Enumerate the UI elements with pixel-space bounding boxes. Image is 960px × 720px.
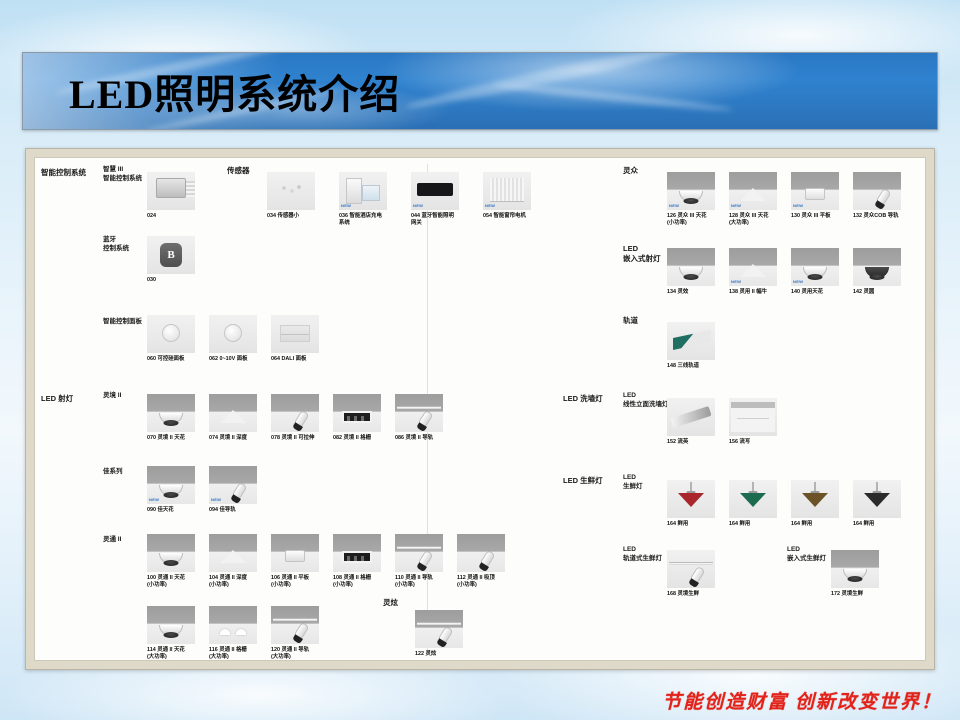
new-badge: NEW xyxy=(793,279,803,284)
product-caption: 100 灵通 II 天花 (小功率) xyxy=(147,575,195,589)
product-thumbnail xyxy=(333,394,381,432)
gateway-box-icon xyxy=(417,183,453,196)
downlight-ring-icon xyxy=(684,274,699,280)
product-thumbnail xyxy=(667,398,715,436)
grille-lamp-icon xyxy=(342,551,372,563)
product-cell[interactable]: 164 鲜用 xyxy=(791,480,839,528)
product-caption: 164 鲜用 xyxy=(667,521,715,528)
product-cell[interactable]: NEW094 佳导轨 xyxy=(209,466,257,514)
product-thumbnail: NEW xyxy=(667,172,715,210)
product-cell[interactable]: 164 鲜用 xyxy=(729,480,777,528)
product-caption: 024 xyxy=(147,213,195,220)
curtain-motor-icon xyxy=(490,178,524,202)
product-thumbnail xyxy=(791,480,839,518)
product-cell[interactable]: B030 xyxy=(147,236,195,284)
product-caption: 062 0~10V 面板 xyxy=(209,356,257,363)
track-head-icon xyxy=(437,626,453,644)
new-badge: NEW xyxy=(149,497,159,502)
cone-lamp-icon xyxy=(220,410,246,423)
product-thumbnail xyxy=(209,534,257,572)
product-caption: 108 灵通 II 格栅 (小功率) xyxy=(333,575,381,589)
product-thumbnail xyxy=(209,394,257,432)
product-cell[interactable]: 148 三线轨道 xyxy=(667,322,715,370)
product-caption: 126 灵众 III 天花 (小功率) xyxy=(667,213,715,227)
product-cell[interactable]: 152 流英 xyxy=(667,398,715,446)
pendant-shade-icon xyxy=(678,493,704,507)
product-caption: 122 灵炫 xyxy=(415,651,463,658)
product-thumbnail xyxy=(147,394,195,432)
product-thumbnail xyxy=(853,248,901,286)
product-thumbnail xyxy=(147,534,195,572)
product-thumbnail xyxy=(271,394,319,432)
product-cell[interactable]: NEW036 智能酒店充电系统 xyxy=(339,172,387,227)
track-head-icon xyxy=(875,188,891,206)
new-badge: NEW xyxy=(731,203,741,208)
product-caption: 104 灵通 II 深度 (小功率) xyxy=(209,575,257,589)
product-cell[interactable]: 078 灵境 II 可拉伸 xyxy=(271,394,319,442)
section-title: 灵炫 xyxy=(383,598,398,608)
product-thumbnail xyxy=(271,606,319,644)
wall-wash-icon xyxy=(731,402,775,432)
twin-dome-icon xyxy=(217,623,249,635)
group-label: LED 线性立面洗墙灯 xyxy=(623,392,669,410)
product-caption: 120 灵通 II 导轨 (大功率) xyxy=(271,647,319,661)
downlight-ring-icon xyxy=(164,492,179,498)
pendant-shade-icon xyxy=(740,493,766,507)
cone-lamp-icon xyxy=(740,188,766,201)
product-cell[interactable]: 112 灵通 II 吸顶 (小功率) xyxy=(457,534,505,589)
product-thumbnail xyxy=(147,606,195,644)
new-badge: NEW xyxy=(793,203,803,208)
catalog-sheet: 智能控制系统智慧 III 智能控制系统024蓝牙 控制系统B030智能控制面板0… xyxy=(34,157,926,661)
product-caption: 164 鲜用 xyxy=(791,521,839,528)
new-badge: NEW xyxy=(731,279,741,284)
product-thumbnail xyxy=(267,172,315,210)
product-cell[interactable]: 142 灵圆 xyxy=(853,248,901,296)
group-label: 蓝牙 控制系统 xyxy=(103,236,129,254)
group-label: 佳系列 xyxy=(103,468,123,477)
product-thumbnail xyxy=(147,315,195,353)
grille-lamp-icon xyxy=(342,411,372,423)
pendant-shade-icon xyxy=(802,493,828,507)
product-caption: 110 灵通 II 导轨 (小功率) xyxy=(395,575,443,589)
product-caption: 094 佳导轨 xyxy=(209,507,257,514)
track-rail-icon xyxy=(417,622,461,625)
product-cell[interactable]: 104 灵通 II 深度 (小功率) xyxy=(209,534,257,589)
product-thumbnail: NEW xyxy=(147,466,195,504)
product-thumbnail xyxy=(667,248,715,286)
track-head-icon xyxy=(417,550,433,568)
downlight-ring-icon xyxy=(684,198,699,204)
product-thumbnail xyxy=(395,534,443,572)
section-title: 智能控制系统 xyxy=(41,168,86,178)
downlight-ring-icon xyxy=(848,576,863,582)
cloud-streak-icon xyxy=(493,80,733,113)
product-thumbnail xyxy=(457,534,505,572)
product-cell[interactable]: 164 鲜用 xyxy=(853,480,901,528)
product-caption: 112 灵通 II 吸顶 (小功率) xyxy=(457,575,505,589)
product-thumbnail xyxy=(271,534,319,572)
product-cell[interactable]: 082 灵境 II 格栅 xyxy=(333,394,381,442)
product-cell[interactable]: 120 灵通 II 导轨 (大功率) xyxy=(271,606,319,661)
slide-title-banner: LED照明系统介绍 xyxy=(22,52,938,130)
track-head-icon xyxy=(479,550,495,568)
group-label: LED 生鲜灯 xyxy=(623,474,643,492)
downlight-ring-icon xyxy=(870,274,885,280)
product-cell[interactable]: 064 DALI 面板 xyxy=(271,315,319,363)
product-caption: 060 可控硅面板 xyxy=(147,356,195,363)
footer-slogan: 节能创造财富 创新改变世界！ xyxy=(662,687,942,714)
product-thumbnail xyxy=(209,315,257,353)
product-thumbnail xyxy=(729,480,777,518)
product-cell[interactable]: NEW044 蓝牙智能照明网关 xyxy=(411,172,459,227)
cone-lamp-icon xyxy=(220,550,246,563)
product-caption: 090 佳天花 xyxy=(147,507,195,514)
product-caption: 036 智能酒店充电系统 xyxy=(339,213,387,227)
product-cell[interactable]: NEW054 智能窗帘电机 xyxy=(483,172,531,220)
product-cell[interactable]: 114 灵通 II 天花 (大功率) xyxy=(147,606,195,661)
product-caption: 034 传感器小 xyxy=(267,213,315,220)
product-cell[interactable]: NEW130 灵众 III 平板 xyxy=(791,172,839,220)
dimmer-knob-icon xyxy=(224,324,242,342)
downlight-ring-icon xyxy=(164,560,179,566)
product-caption: 128 灵众 III 天花 (大功率) xyxy=(729,213,777,227)
dimmer-knob-icon xyxy=(162,324,180,342)
product-thumbnail xyxy=(667,322,715,360)
product-caption: 148 三线轨道 xyxy=(667,363,715,370)
product-cell[interactable]: 074 灵境 II 深度 xyxy=(209,394,257,442)
group-label: 灵通 II xyxy=(103,536,121,545)
product-cell[interactable]: 164 鲜用 xyxy=(667,480,715,528)
product-thumbnail xyxy=(147,172,195,210)
product-cell[interactable]: NEW140 灵用天花 xyxy=(791,248,839,296)
page-title: LED照明系统介绍 xyxy=(69,62,400,120)
product-caption: 086 灵境 II 导轨 xyxy=(395,435,443,442)
product-cell[interactable]: 086 灵境 II 导轨 xyxy=(395,394,443,442)
sensor-icon xyxy=(278,184,304,194)
product-cell[interactable]: 108 灵通 II 格栅 (小功率) xyxy=(333,534,381,589)
product-caption: 134 灵效 xyxy=(667,289,715,296)
linear-wash-icon xyxy=(670,406,711,428)
product-cell[interactable]: 110 灵通 II 导轨 (小功率) xyxy=(395,534,443,589)
product-thumbnail xyxy=(853,480,901,518)
product-thumbnail: NEW xyxy=(209,466,257,504)
product-caption: 164 鲜用 xyxy=(853,521,901,528)
product-cell[interactable]: NEW090 佳天花 xyxy=(147,466,195,514)
product-caption: 132 灵众COB 导轨 xyxy=(853,213,901,220)
product-thumbnail: NEW xyxy=(483,172,531,210)
product-caption: 114 灵通 II 天花 (大功率) xyxy=(147,647,195,661)
product-cell[interactable]: 134 灵效 xyxy=(667,248,715,296)
flat-panel-lamp-icon xyxy=(805,188,825,200)
product-thumbnail: NEW xyxy=(729,172,777,210)
section-title: LED 射灯 xyxy=(41,394,73,404)
product-thumbnail: B xyxy=(147,236,195,274)
product-cell[interactable]: 122 灵炫 xyxy=(415,610,463,658)
cone-lamp-icon xyxy=(740,264,766,277)
product-thumbnail xyxy=(333,534,381,572)
three-wire-track-icon xyxy=(673,330,711,350)
pendant-shade-icon xyxy=(864,493,890,507)
product-cell[interactable]: 034 传感器小 xyxy=(267,172,315,220)
product-caption: 044 蓝牙智能照明网关 xyxy=(411,213,459,227)
product-caption: 116 灵通 II 格栅 (大功率) xyxy=(209,647,257,661)
gateway-icon xyxy=(156,178,186,198)
hotel-system-icon xyxy=(346,178,380,202)
product-caption: 156 流写 xyxy=(729,439,777,446)
downlight-ring-icon xyxy=(808,274,823,280)
section-title: LED 生鲜灯 xyxy=(563,476,603,486)
product-thumbnail xyxy=(729,398,777,436)
group-label: LED 嵌入式生鲜灯 xyxy=(787,546,826,564)
product-thumbnail xyxy=(831,550,879,588)
product-thumbnail xyxy=(271,315,319,353)
product-caption: 164 鲜用 xyxy=(729,521,777,528)
flat-panel-lamp-icon xyxy=(285,550,305,562)
track-head-icon xyxy=(689,566,705,584)
product-thumbnail xyxy=(853,172,901,210)
product-thumbnail xyxy=(395,394,443,432)
product-caption: 070 灵境 II 天花 xyxy=(147,435,195,442)
product-thumbnail xyxy=(415,610,463,648)
product-caption: 168 灵境生鲜 xyxy=(667,591,715,598)
group-label: 灵境 II xyxy=(103,392,121,401)
track-rail-icon xyxy=(273,618,317,621)
product-cell[interactable]: 106 灵通 II 平板 (小功率) xyxy=(271,534,319,589)
product-cell[interactable]: 168 灵境生鲜 xyxy=(667,550,715,598)
product-thumbnail xyxy=(667,550,715,588)
downlight-ring-icon xyxy=(164,420,179,426)
product-cell[interactable]: 060 可控硅面板 xyxy=(147,315,195,363)
track-head-icon xyxy=(417,410,433,428)
product-caption: 078 灵境 II 可拉伸 xyxy=(271,435,319,442)
group-label: 智能控制面板 xyxy=(103,318,142,327)
product-caption: 106 灵通 II 平板 (小功率) xyxy=(271,575,319,589)
product-thumbnail xyxy=(667,480,715,518)
track-rail-icon xyxy=(397,406,441,409)
product-cell[interactable]: 156 流写 xyxy=(729,398,777,446)
product-cell[interactable]: 132 灵众COB 导轨 xyxy=(853,172,901,220)
catalog-frame: 智能控制系统智慧 III 智能控制系统024蓝牙 控制系统B030智能控制面板0… xyxy=(25,148,935,670)
product-thumbnail: NEW xyxy=(791,248,839,286)
flat-panel-icon xyxy=(280,325,310,342)
product-caption: 172 灵境生鲜 xyxy=(831,591,879,598)
track-rail-icon xyxy=(669,562,713,565)
product-thumbnail: NEW xyxy=(411,172,459,210)
product-thumbnail: NEW xyxy=(729,248,777,286)
new-badge: NEW xyxy=(669,203,679,208)
product-caption: 142 灵圆 xyxy=(853,289,901,296)
product-cell[interactable]: 070 灵境 II 天花 xyxy=(147,394,195,442)
product-thumbnail: NEW xyxy=(339,172,387,210)
product-cell[interactable]: 062 0~10V 面板 xyxy=(209,315,257,363)
downlight-ring-icon xyxy=(164,632,179,638)
track-head-icon xyxy=(293,622,309,640)
product-caption: 082 灵境 II 格栅 xyxy=(333,435,381,442)
product-cell[interactable]: NEW128 灵众 III 天花 (大功率) xyxy=(729,172,777,227)
product-cell[interactable]: 100 灵通 II 天花 (小功率) xyxy=(147,534,195,589)
product-caption: 064 DALI 面板 xyxy=(271,356,319,363)
product-thumbnail xyxy=(209,606,257,644)
product-cell[interactable]: 172 灵境生鲜 xyxy=(831,550,879,598)
track-head-icon xyxy=(293,410,309,428)
product-caption: 074 灵境 II 深度 xyxy=(209,435,257,442)
product-caption: 030 xyxy=(147,277,195,284)
section-title: LED 洗墙灯 xyxy=(563,394,603,404)
product-caption: 140 灵用天花 xyxy=(791,289,839,296)
product-caption: 138 灵用 II 幅牛 xyxy=(729,289,777,296)
product-caption: 130 灵众 III 平板 xyxy=(791,213,839,220)
group-label: LED 轨道式生鲜灯 xyxy=(623,546,662,564)
product-caption: 152 流英 xyxy=(667,439,715,446)
product-cell[interactable]: NEW138 灵用 II 幅牛 xyxy=(729,248,777,296)
section-title: 灵众 xyxy=(623,166,638,176)
section-title: 传感器 xyxy=(227,166,250,176)
new-badge: NEW xyxy=(341,203,351,208)
section-title: 轨道 xyxy=(623,316,638,326)
track-rail-icon xyxy=(397,546,441,549)
bluetooth-icon: B xyxy=(160,243,182,267)
new-badge: NEW xyxy=(211,497,221,502)
product-thumbnail: NEW xyxy=(791,172,839,210)
new-badge: NEW xyxy=(413,203,423,208)
new-badge: NEW xyxy=(485,203,495,208)
product-cell[interactable]: NEW126 灵众 III 天花 (小功率) xyxy=(667,172,715,227)
product-caption: 054 智能窗帘电机 xyxy=(483,213,531,220)
product-cell[interactable]: 116 灵通 II 格栅 (大功率) xyxy=(209,606,257,661)
track-head-icon xyxy=(231,482,247,500)
group-label: 智慧 III 智能控制系统 xyxy=(103,166,142,184)
product-cell[interactable]: 024 xyxy=(147,172,195,220)
section-title: LED 嵌入式射灯 xyxy=(623,244,661,264)
